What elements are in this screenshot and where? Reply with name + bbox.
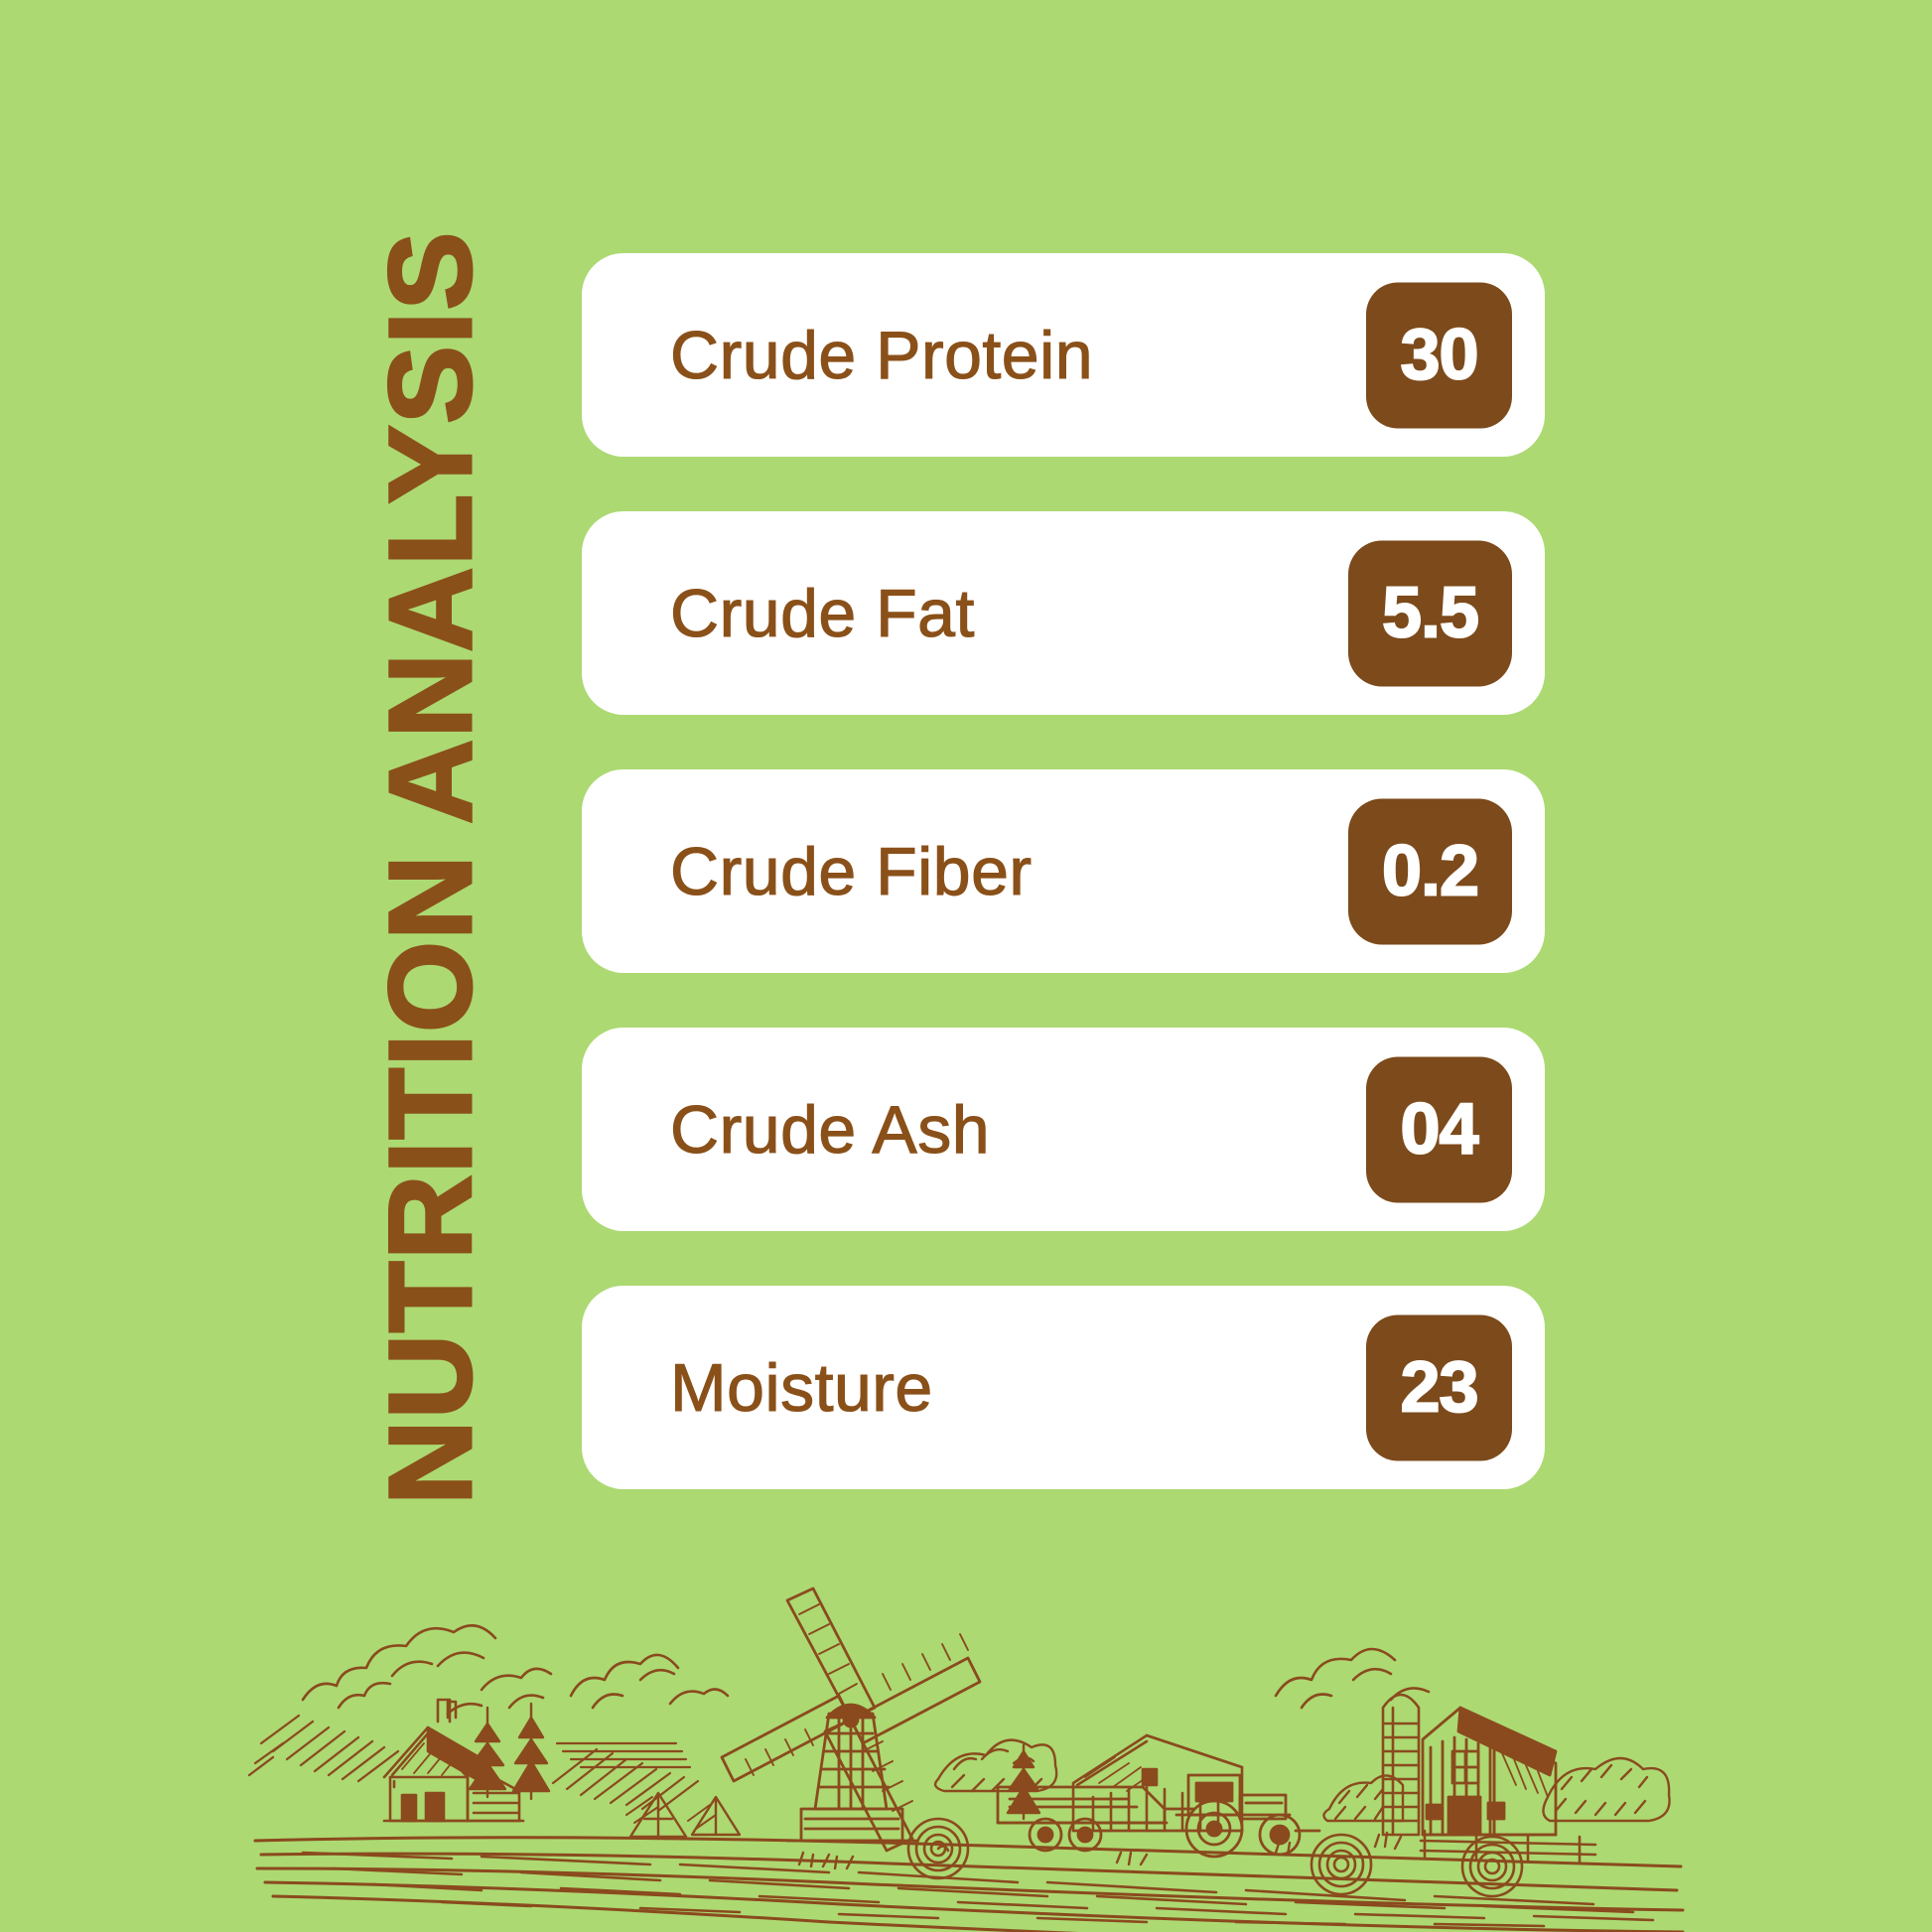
nutrition-row-value-badge: 30 xyxy=(1366,282,1512,428)
nutrition-row-value-badge: 23 xyxy=(1366,1314,1512,1460)
nutrition-row-label: Crude Fat xyxy=(670,575,975,652)
nutrition-rows-list: Crude Protein 30 Crude Fat 5.5 Crude Fib… xyxy=(582,253,1545,1489)
nutrition-row-label: Crude Fiber xyxy=(670,833,1033,910)
nutrition-row-crude-fiber[interactable]: Crude Fiber 0.2 xyxy=(582,769,1545,973)
hay-bale-1 xyxy=(908,1819,968,1878)
nutrition-analysis-poster: NUTRITION ANALYSIS Crude Protein 30 Crud… xyxy=(0,0,1932,1932)
nutrition-row-crude-ash[interactable]: Crude Ash 04 xyxy=(582,1028,1545,1231)
nutrition-row-crude-fat[interactable]: Crude Fat 5.5 xyxy=(582,511,1545,715)
silo xyxy=(1383,1695,1419,1835)
nutrition-row-value-badge: 0.2 xyxy=(1348,798,1512,944)
hay-bale-3 xyxy=(1462,1837,1522,1896)
nutrition-row-label: Crude Ash xyxy=(670,1091,990,1169)
nutrition-row-value-badge: 5.5 xyxy=(1348,540,1512,686)
nutrition-row-value-badge: 04 xyxy=(1366,1056,1512,1202)
hay-bale-2 xyxy=(1311,1835,1371,1894)
field-band-left xyxy=(249,1716,398,1781)
clouds-right xyxy=(1276,1649,1429,1708)
bushes-far-left-of-silo xyxy=(1323,1775,1403,1821)
nutrition-row-moisture[interactable]: Moisture 23 xyxy=(582,1286,1545,1489)
field-hatch-mid xyxy=(553,1743,698,1811)
nutrition-row-crude-protein[interactable]: Crude Protein 30 xyxy=(582,253,1545,457)
clouds-mid xyxy=(571,1655,728,1708)
clouds-left xyxy=(303,1625,551,1714)
bushes-centre xyxy=(935,1740,1056,1791)
farm-landscape-illustration xyxy=(243,1549,1693,1932)
tractor xyxy=(1176,1775,1319,1857)
barn-right xyxy=(1423,1708,1556,1835)
nutrition-row-label: Moisture xyxy=(670,1349,933,1427)
windmill xyxy=(722,1588,980,1851)
nutrition-row-label: Crude Protein xyxy=(670,317,1093,394)
farm-landscape-svg xyxy=(243,1549,1693,1932)
bushes-right xyxy=(1543,1758,1669,1821)
page-title: NUTRITION ANALYSIS xyxy=(372,230,489,1505)
